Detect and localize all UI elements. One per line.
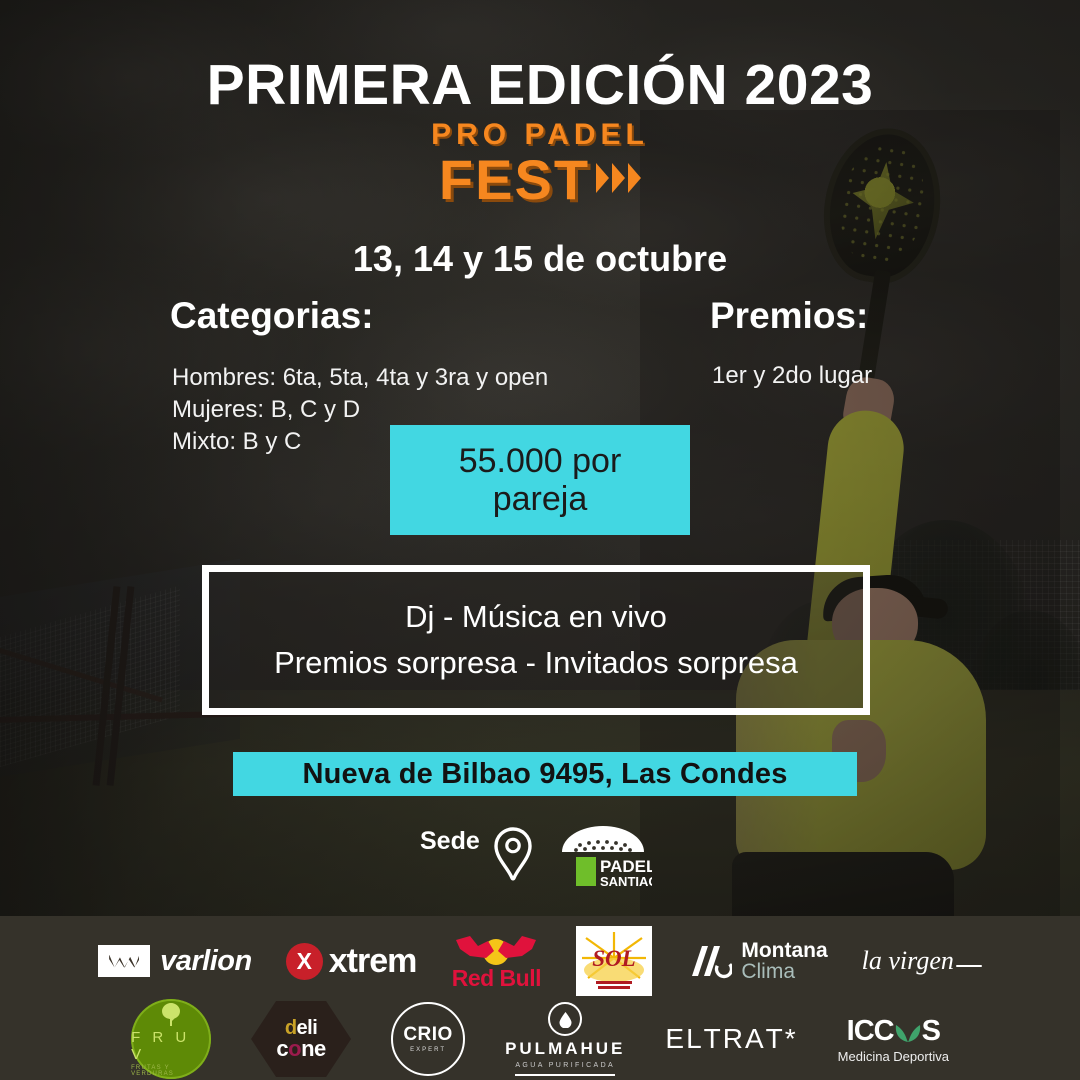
address-text: Nueva de Bilbao 9495, Las Condes	[302, 758, 787, 791]
page-title: PRIMERA EDICIÓN 2023	[0, 52, 1080, 118]
laurel-wreath-icon	[891, 1017, 925, 1045]
event-poster: PRIMERA EDICIÓN 2023 PRO PADEL FEST 13, …	[0, 0, 1080, 1080]
divider	[515, 1074, 615, 1076]
sponsor-red-bull: Red Bull	[450, 932, 542, 990]
chevron-right-icon	[596, 163, 641, 193]
sponsor-label-line-3: T*	[766, 1025, 798, 1052]
sponsor-sublabel: Clima	[741, 961, 827, 982]
sponsor-label-tail: S	[922, 1015, 940, 1048]
price-line-1: 55.000 por	[459, 442, 622, 480]
sponsor-band: varlion X xtrem Red Bull	[0, 916, 1080, 1080]
extras-line-1: Dj - Música en vivo	[405, 594, 667, 641]
location-pin-icon	[492, 826, 534, 882]
svg-text:SOL: SOL	[593, 946, 636, 971]
price-line-2: pareja	[459, 480, 622, 518]
categories-heading: Categorias:	[170, 295, 374, 337]
sponsor-row-2: F R U V FRUTAS Y VERDURAS deli cone CRIO…	[0, 1000, 1080, 1078]
sponsor-el-trat: EL TRA T*	[665, 1025, 797, 1052]
price-text: 55.000 por pareja	[459, 442, 622, 518]
venue-label: Sede	[420, 828, 478, 854]
fruv-tree-icon	[157, 1001, 185, 1027]
red-bull-bulls-icon	[450, 932, 542, 966]
sponsor-label: F R U V	[131, 1029, 211, 1063]
sponsor-label: varlion	[160, 945, 252, 978]
prizes-heading: Premios:	[710, 295, 868, 337]
varlion-mark-icon	[98, 945, 150, 977]
sponsor-pulmahue: PULMAHUE AGUA PURIFICADA	[505, 1002, 625, 1076]
event-dates: 13, 14 y 15 de octubre	[0, 238, 1080, 280]
sponsor-sublabel: FRUTAS Y VERDURAS	[131, 1065, 211, 1077]
sponsor-sublabel: cone	[276, 1038, 325, 1060]
montana-mark-icon	[686, 942, 732, 980]
sponsor-sol: SOL	[576, 926, 652, 996]
water-drop-icon	[548, 1002, 582, 1036]
sponsor-label: deli	[285, 1018, 317, 1038]
sponsor-varlion: varlion	[98, 945, 252, 978]
event-logo: PRO PADEL FEST	[0, 120, 1080, 208]
prizes-list: 1er y 2do lugar	[712, 362, 872, 390]
sponsor-sublabel: Medicina Deportiva	[838, 1049, 949, 1064]
sponsor-montana-clima: Montana Clima	[686, 940, 827, 983]
epadel-santiago-logo: PADEL SANTIAGO	[554, 824, 652, 890]
sponsor-fruv: F R U V FRUTAS Y VERDURAS	[131, 999, 211, 1079]
sponsor-la-virgen: la virgen	[862, 946, 982, 976]
logo-fest: FEST	[439, 152, 590, 208]
sponsor-label-line-2: TRA	[704, 1025, 766, 1052]
sol-logo-icon: SOL	[576, 926, 652, 996]
logo-pro-padel: PRO PADEL	[431, 120, 649, 150]
sponsor-label-line-1: EL	[665, 1025, 703, 1052]
venue-row: Sede PADEL S	[420, 828, 670, 900]
sponsor-label: PULMAHUE	[505, 1039, 625, 1059]
xtrem-x-icon: X	[286, 943, 323, 980]
extras-line-2: Premios sorpresa - Invitados sorpresa	[274, 640, 798, 687]
category-line: Mujeres: B, C y D	[172, 394, 548, 426]
price-badge: 55.000 por pareja	[390, 425, 690, 535]
sponsor-xtrem: X xtrem	[286, 942, 417, 981]
svg-text:SANTIAGO: SANTIAGO	[600, 874, 652, 889]
sponsor-row-1: varlion X xtrem Red Bull	[0, 922, 1080, 1000]
sponsor-delicone: deli cone	[251, 1001, 351, 1077]
extras-box: Dj - Música en vivo Premios sorpresa - I…	[202, 565, 870, 715]
sponsor-iccus: ICC S Medicina Deportiva	[838, 1015, 949, 1064]
sponsor-sublabel: AGUA PURIFICADA	[515, 1062, 615, 1069]
sponsor-label: ICC	[847, 1015, 894, 1048]
sponsor-sublabel: EXPERT	[410, 1047, 446, 1053]
prize-line: 1er y 2do lugar	[712, 362, 872, 390]
sponsor-label: Montana	[741, 940, 827, 961]
category-line: Hombres: 6ta, 5ta, 4ta y 3ra y open	[172, 362, 548, 394]
sponsor-crio-expert: CRIO EXPERT	[391, 1002, 465, 1076]
address-badge: Nueva de Bilbao 9495, Las Condes	[233, 752, 857, 796]
sponsor-label: xtrem	[329, 942, 417, 981]
sponsor-label: CRIO	[403, 1025, 453, 1044]
sponsor-label: Red Bull	[452, 967, 541, 990]
